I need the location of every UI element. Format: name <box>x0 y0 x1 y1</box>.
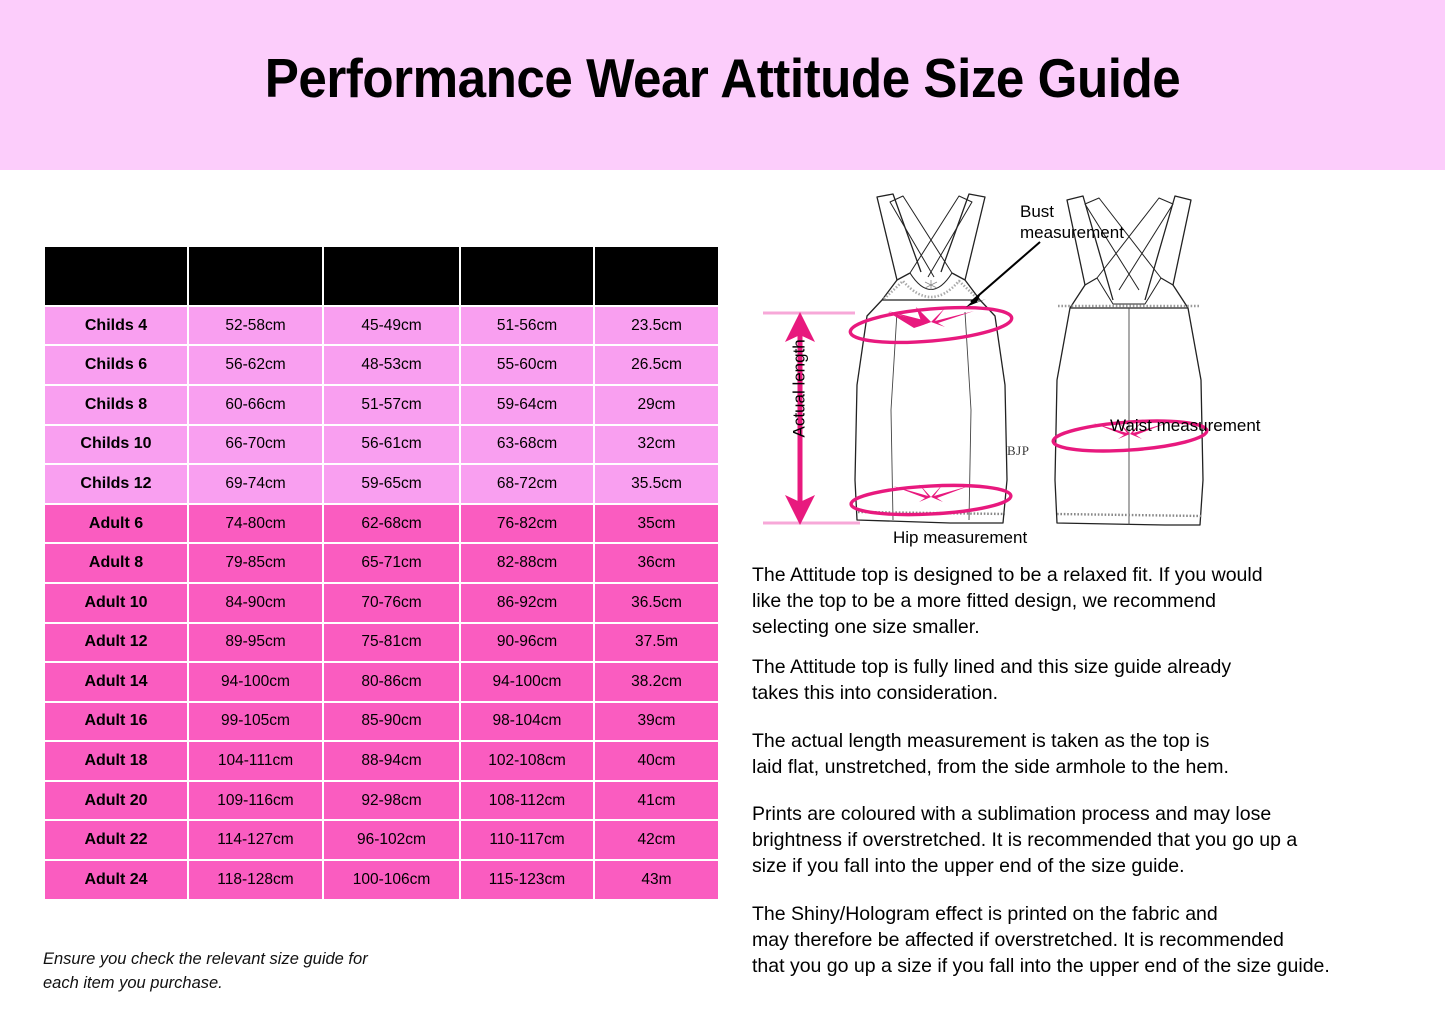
table-cell-size: Adult 10 <box>45 584 187 622</box>
table-cell-size: Adult 12 <box>45 624 187 662</box>
table-row: Adult 1289-95cm75-81cm90-96cm37.5m <box>45 624 718 662</box>
table-cell-hip: 90-96cm <box>461 624 593 662</box>
table-cell-hip: 108-112cm <box>461 782 593 820</box>
actual-length-arrow <box>763 312 860 525</box>
table-cell-waist: 51-57cm <box>324 386 459 424</box>
table-cell-hip: 98-104cm <box>461 703 593 741</box>
table-cell-waist: 88-94cm <box>324 742 459 780</box>
hip-measurement-label: Hip measurement <box>893 528 1027 549</box>
table-cell-hip: 51-56cm <box>461 307 593 345</box>
title-banner: Performance Wear Attitude Size Guide <box>0 0 1445 170</box>
table-cell-size: Childs 8 <box>45 386 187 424</box>
copy-paragraph-4: Prints are coloured with a sublimation p… <box>752 802 1442 880</box>
table-cell-hip: 82-88cm <box>461 544 593 582</box>
table-cell-bust: 104-111cm <box>189 742 322 780</box>
table-cell-size: Adult 20 <box>45 782 187 820</box>
bust-leader-arrow <box>966 242 1040 307</box>
table-cell-hip: 59-64cm <box>461 386 593 424</box>
table-cell-size: Adult 16 <box>45 703 187 741</box>
actual-length-label: Actual length <box>790 293 811 483</box>
table-row: Adult 879-85cm65-71cm82-88cm36cm <box>45 544 718 582</box>
table-cell-waist: 80-86cm <box>324 663 459 701</box>
bjp-watermark: BJP <box>1007 443 1029 459</box>
table-cell-size: Adult 18 <box>45 742 187 780</box>
table-cell-bust: 109-116cm <box>189 782 322 820</box>
table-cell-waist: 92-98cm <box>324 782 459 820</box>
table-cell-length: 39cm <box>595 703 718 741</box>
table-cell-waist: 62-68cm <box>324 505 459 543</box>
waist-measurement-label: Waist measurement <box>1110 416 1261 437</box>
table-cell-waist: 70-76cm <box>324 584 459 622</box>
size-chart-table: BUST WAIST HIP Actual LENGTH of top Chil… <box>43 245 720 901</box>
table-row: Childs 656-62cm48-53cm55-60cm26.5cm <box>45 346 718 384</box>
footer-note: Ensure you check the relevant size guide… <box>43 948 373 996</box>
table-cell-hip: 115-123cm <box>461 861 593 899</box>
table-row: Adult 18104-111cm88-94cm102-108cm40cm <box>45 742 718 780</box>
table-cell-bust: 79-85cm <box>189 544 322 582</box>
table-row: Adult 22114-127cm96-102cm110-117cm42cm <box>45 821 718 859</box>
table-cell-length: 26.5cm <box>595 346 718 384</box>
table-cell-waist: 85-90cm <box>324 703 459 741</box>
table-cell-size: Adult 6 <box>45 505 187 543</box>
back-view-group <box>1055 196 1203 525</box>
measurement-arrowheads <box>888 307 1167 502</box>
table-cell-size: Adult 14 <box>45 663 187 701</box>
table-cell-hip: 63-68cm <box>461 426 593 464</box>
table-cell-length: 42cm <box>595 821 718 859</box>
table-cell-size: Childs 12 <box>45 465 187 503</box>
table-cell-bust: 60-66cm <box>189 386 322 424</box>
table-cell-bust: 69-74cm <box>189 465 322 503</box>
length-header-line1: Actual <box>595 247 718 264</box>
table-cell-waist: 65-71cm <box>324 544 459 582</box>
table-header-waist: WAIST <box>324 247 459 305</box>
table-cell-length: 23.5cm <box>595 307 718 345</box>
table-cell-length: 43m <box>595 861 718 899</box>
table-row: Adult 1699-105cm85-90cm98-104cm39cm <box>45 703 718 741</box>
table-cell-size: Adult 8 <box>45 544 187 582</box>
table-row: Childs 1066-70cm56-61cm63-68cm32cm <box>45 426 718 464</box>
table-cell-length: 29cm <box>595 386 718 424</box>
table-header-row: BUST WAIST HIP Actual LENGTH of top <box>45 247 718 305</box>
table-header-corner <box>45 247 187 305</box>
table-header-bust: BUST <box>189 247 322 305</box>
length-header-line2: LENGTH <box>595 264 718 288</box>
table-row: Childs 452-58cm45-49cm51-56cm23.5cm <box>45 307 718 345</box>
table-cell-size: Adult 24 <box>45 861 187 899</box>
table-cell-length: 37.5m <box>595 624 718 662</box>
table-cell-length: 38.2cm <box>595 663 718 701</box>
table-cell-hip: 110-117cm <box>461 821 593 859</box>
table-row: Adult 1084-90cm70-76cm86-92cm36.5cm <box>45 584 718 622</box>
table-cell-hip: 86-92cm <box>461 584 593 622</box>
copy-paragraph-2: The Attitude top is fully lined and this… <box>752 655 1442 707</box>
table-cell-waist: 48-53cm <box>324 346 459 384</box>
table-cell-bust: 66-70cm <box>189 426 322 464</box>
table-cell-waist: 45-49cm <box>324 307 459 345</box>
table-cell-bust: 94-100cm <box>189 663 322 701</box>
table-cell-waist: 96-102cm <box>324 821 459 859</box>
table-cell-hip: 55-60cm <box>461 346 593 384</box>
table-cell-waist: 100-106cm <box>324 861 459 899</box>
table-header-hip: HIP <box>461 247 593 305</box>
table-cell-length: 36cm <box>595 544 718 582</box>
copy-paragraph-3: The actual length measurement is taken a… <box>752 729 1442 781</box>
table-cell-bust: 52-58cm <box>189 307 322 345</box>
table-cell-bust: 99-105cm <box>189 703 322 741</box>
bust-measurement-label: Bust measurement <box>1020 202 1124 243</box>
table-cell-length: 32cm <box>595 426 718 464</box>
table-body: Childs 452-58cm45-49cm51-56cm23.5cmChild… <box>45 307 718 899</box>
table-cell-hip: 68-72cm <box>461 465 593 503</box>
table-cell-hip: 102-108cm <box>461 742 593 780</box>
table-row: Childs 1269-74cm59-65cm68-72cm35.5cm <box>45 465 718 503</box>
table-cell-bust: 74-80cm <box>189 505 322 543</box>
table-cell-length: 41cm <box>595 782 718 820</box>
table-cell-hip: 94-100cm <box>461 663 593 701</box>
table-cell-size: Childs 4 <box>45 307 187 345</box>
guidance-copy: The Attitude top is designed to be a rel… <box>752 563 1442 994</box>
table-cell-bust: 118-128cm <box>189 861 322 899</box>
page-title: Performance Wear Attitude Size Guide <box>51 46 1395 110</box>
table-cell-bust: 84-90cm <box>189 584 322 622</box>
table-cell-bust: 114-127cm <box>189 821 322 859</box>
table-cell-length: 35cm <box>595 505 718 543</box>
table-cell-size: Childs 10 <box>45 426 187 464</box>
front-view-group <box>855 194 1007 523</box>
table-row: Adult 1494-100cm80-86cm94-100cm38.2cm <box>45 663 718 701</box>
table-header-length: Actual LENGTH of top <box>595 247 718 305</box>
table-cell-length: 40cm <box>595 742 718 780</box>
table-cell-waist: 56-61cm <box>324 426 459 464</box>
table-cell-length: 35.5cm <box>595 465 718 503</box>
length-header-line3: of top <box>595 288 718 305</box>
size-guide-page: Performance Wear Attitude Size Guide BUS… <box>0 0 1445 1022</box>
table-row: Childs 860-66cm51-57cm59-64cm29cm <box>45 386 718 424</box>
table-cell-hip: 76-82cm <box>461 505 593 543</box>
copy-paragraph-5: The Shiny/Hologram effect is printed on … <box>752 902 1442 980</box>
table-row: Adult 674-80cm62-68cm76-82cm35cm <box>45 505 718 543</box>
copy-paragraph-1: The Attitude top is designed to be a rel… <box>752 563 1442 641</box>
table-row: Adult 20109-116cm92-98cm108-112cm41cm <box>45 782 718 820</box>
garment-diagram: Bust measurement Hip measurement Waist m… <box>745 180 1445 560</box>
table-cell-size: Adult 22 <box>45 821 187 859</box>
table-cell-bust: 56-62cm <box>189 346 322 384</box>
table-cell-length: 36.5cm <box>595 584 718 622</box>
table-cell-waist: 59-65cm <box>324 465 459 503</box>
measurement-annotations <box>849 302 1208 518</box>
table-cell-bust: 89-95cm <box>189 624 322 662</box>
table-cell-waist: 75-81cm <box>324 624 459 662</box>
table-cell-size: Childs 6 <box>45 346 187 384</box>
table-row: Adult 24118-128cm100-106cm115-123cm43m <box>45 861 718 899</box>
table-header: BUST WAIST HIP Actual LENGTH of top <box>45 247 718 305</box>
